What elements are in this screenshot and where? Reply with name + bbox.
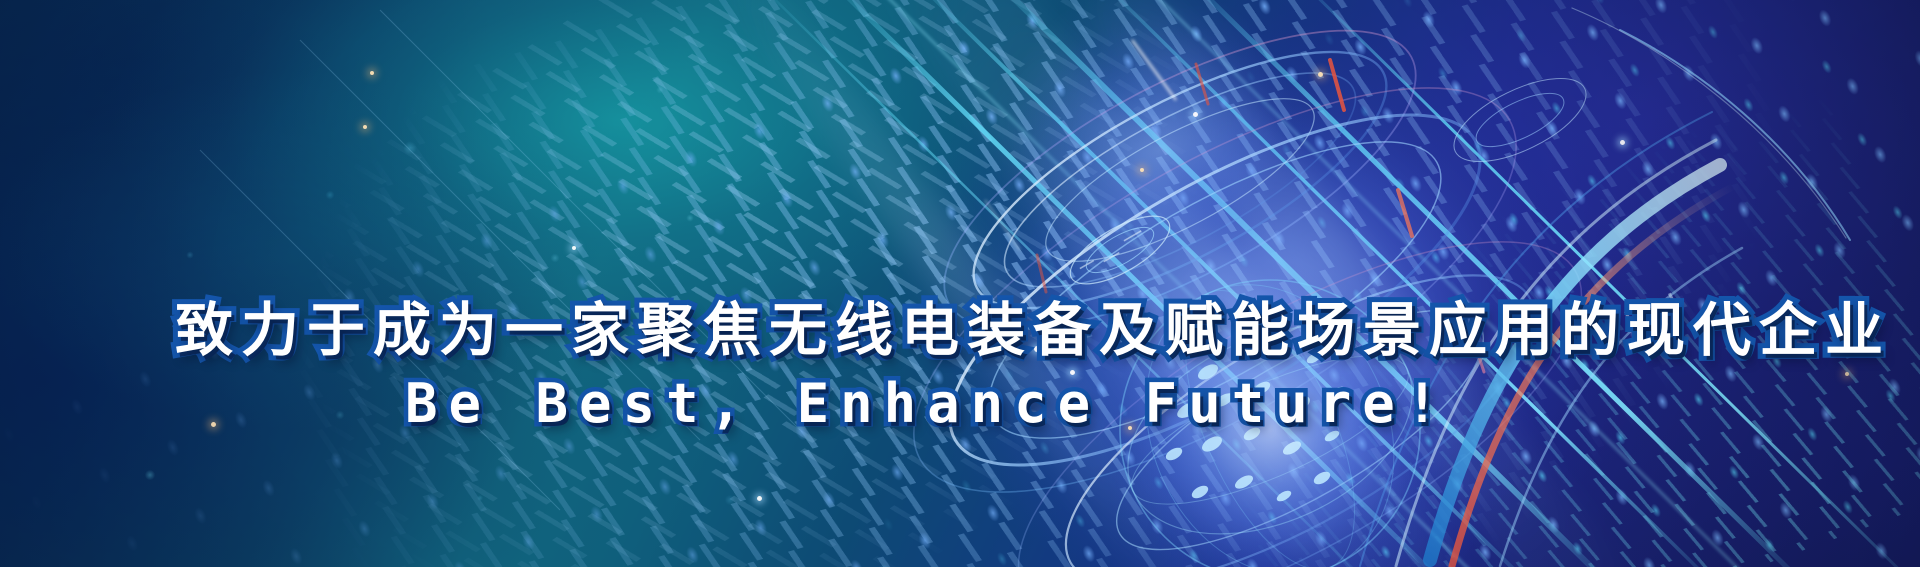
tech-orbital-artwork — [0, 0, 1920, 567]
sparkle-point — [757, 496, 762, 501]
hero-banner: 致力于成为一家聚焦无线电装备及赋能场景应用的现代企业 Be Best, Enha… — [0, 0, 1920, 567]
sparkle-point — [1193, 112, 1198, 117]
sparkle-point — [1620, 140, 1625, 145]
sparkle-point-warm — [1128, 426, 1132, 430]
sparkle-point-warm — [1845, 372, 1849, 376]
sparkle-point — [572, 246, 576, 250]
sparkle-point-warm — [211, 422, 216, 427]
sparkle-point-warm — [370, 71, 374, 75]
sparkle-point-warm — [1140, 168, 1144, 172]
sparkle-point — [1450, 318, 1457, 325]
sparkle-point-warm — [363, 125, 367, 129]
sparkle-point — [1070, 370, 1075, 375]
sparkle-point-warm — [1318, 72, 1323, 77]
sparkle-point — [1034, 346, 1040, 352]
